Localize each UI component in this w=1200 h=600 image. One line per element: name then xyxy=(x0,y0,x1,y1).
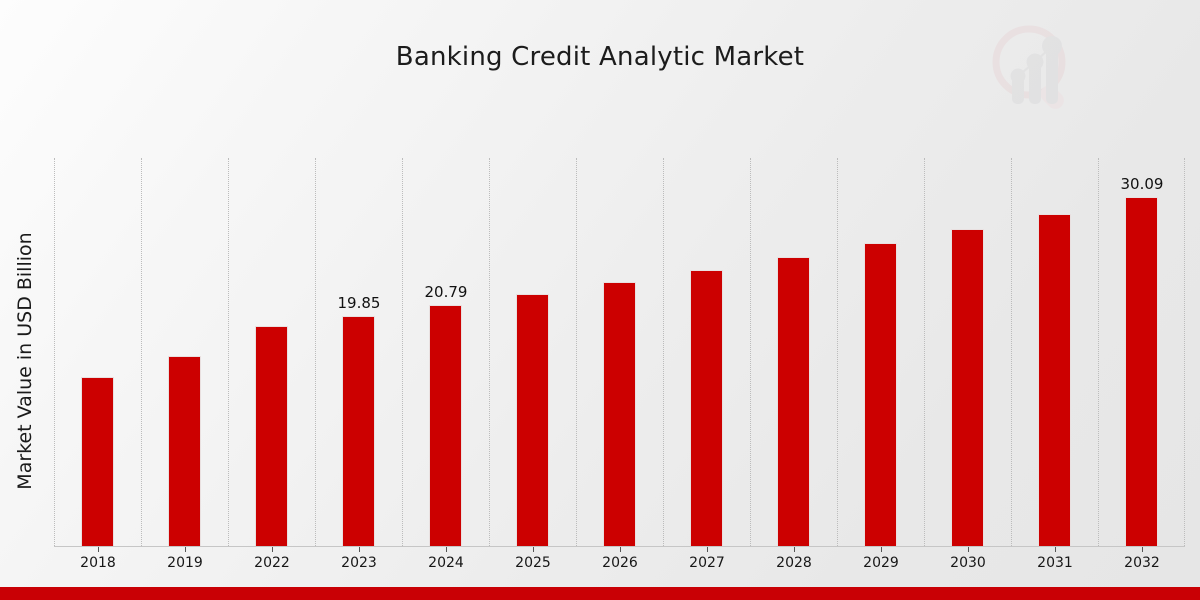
x-tick-label-2032: 2032 xyxy=(1107,555,1177,571)
x-tick-mark-2024 xyxy=(446,547,447,552)
gridline xyxy=(141,158,142,546)
x-tick-mark-2031 xyxy=(1055,547,1056,552)
bar-2024[interactable] xyxy=(429,305,462,546)
logo-watermark xyxy=(985,18,1085,118)
bar-2019[interactable] xyxy=(168,356,201,546)
gridline xyxy=(576,158,577,546)
gridline xyxy=(1184,158,1185,546)
gridline xyxy=(315,158,316,546)
gridline xyxy=(1098,158,1099,546)
x-tick-mark-2029 xyxy=(881,547,882,552)
x-tick-mark-2025 xyxy=(533,547,534,552)
bar-value-label-2024: 20.79 xyxy=(406,283,486,301)
gridline xyxy=(663,158,664,546)
x-tick-label-2024: 2024 xyxy=(411,555,481,571)
bar-2030[interactable] xyxy=(951,229,984,546)
gridline xyxy=(1011,158,1012,546)
gridline xyxy=(750,158,751,546)
bar-2027[interactable] xyxy=(690,270,723,546)
x-tick-label-2022: 2022 xyxy=(237,555,307,571)
bar-value-label-2032: 30.09 xyxy=(1102,175,1182,193)
gridline xyxy=(402,158,403,546)
bar-2025[interactable] xyxy=(516,294,549,546)
x-tick-mark-2019 xyxy=(185,547,186,552)
x-tick-mark-2026 xyxy=(620,547,621,552)
gridline xyxy=(837,158,838,546)
x-tick-label-2019: 2019 xyxy=(150,555,220,571)
bar-2032[interactable] xyxy=(1125,197,1158,546)
bar-2022[interactable] xyxy=(255,326,288,546)
x-tick-mark-2030 xyxy=(968,547,969,552)
x-tick-label-2025: 2025 xyxy=(498,555,568,571)
x-tick-label-2023: 2023 xyxy=(324,555,394,571)
bar-2026[interactable] xyxy=(603,282,636,546)
x-tick-mark-2032 xyxy=(1142,547,1143,552)
gridline xyxy=(228,158,229,546)
x-tick-mark-2023 xyxy=(359,547,360,552)
x-tick-label-2018: 2018 xyxy=(63,555,133,571)
gridline xyxy=(54,158,55,546)
bar-value-label-2023: 19.85 xyxy=(319,294,399,312)
gridline xyxy=(924,158,925,546)
x-tick-label-2028: 2028 xyxy=(759,555,829,571)
bar-2029[interactable] xyxy=(864,243,897,546)
gridline xyxy=(489,158,490,546)
x-tick-label-2031: 2031 xyxy=(1020,555,1090,571)
bar-2023[interactable] xyxy=(342,316,375,546)
accent-band xyxy=(0,587,1200,600)
x-tick-label-2029: 2029 xyxy=(846,555,916,571)
x-tick-label-2027: 2027 xyxy=(672,555,742,571)
x-tick-mark-2027 xyxy=(707,547,708,552)
x-tick-label-2030: 2030 xyxy=(933,555,1003,571)
x-tick-label-2026: 2026 xyxy=(585,555,655,571)
plot-area: 20182019202219.85202320.7920242025202620… xyxy=(54,158,1185,546)
x-tick-mark-2022 xyxy=(272,547,273,552)
bar-2031[interactable] xyxy=(1038,214,1071,546)
chart-canvas: Banking Credit Analytic Market Market Va… xyxy=(0,0,1200,600)
x-tick-mark-2018 xyxy=(98,547,99,552)
x-tick-mark-2028 xyxy=(794,547,795,552)
bar-2028[interactable] xyxy=(777,257,810,546)
y-axis-title: Market Value in USD Billion xyxy=(14,161,36,561)
bar-2018[interactable] xyxy=(81,377,114,546)
